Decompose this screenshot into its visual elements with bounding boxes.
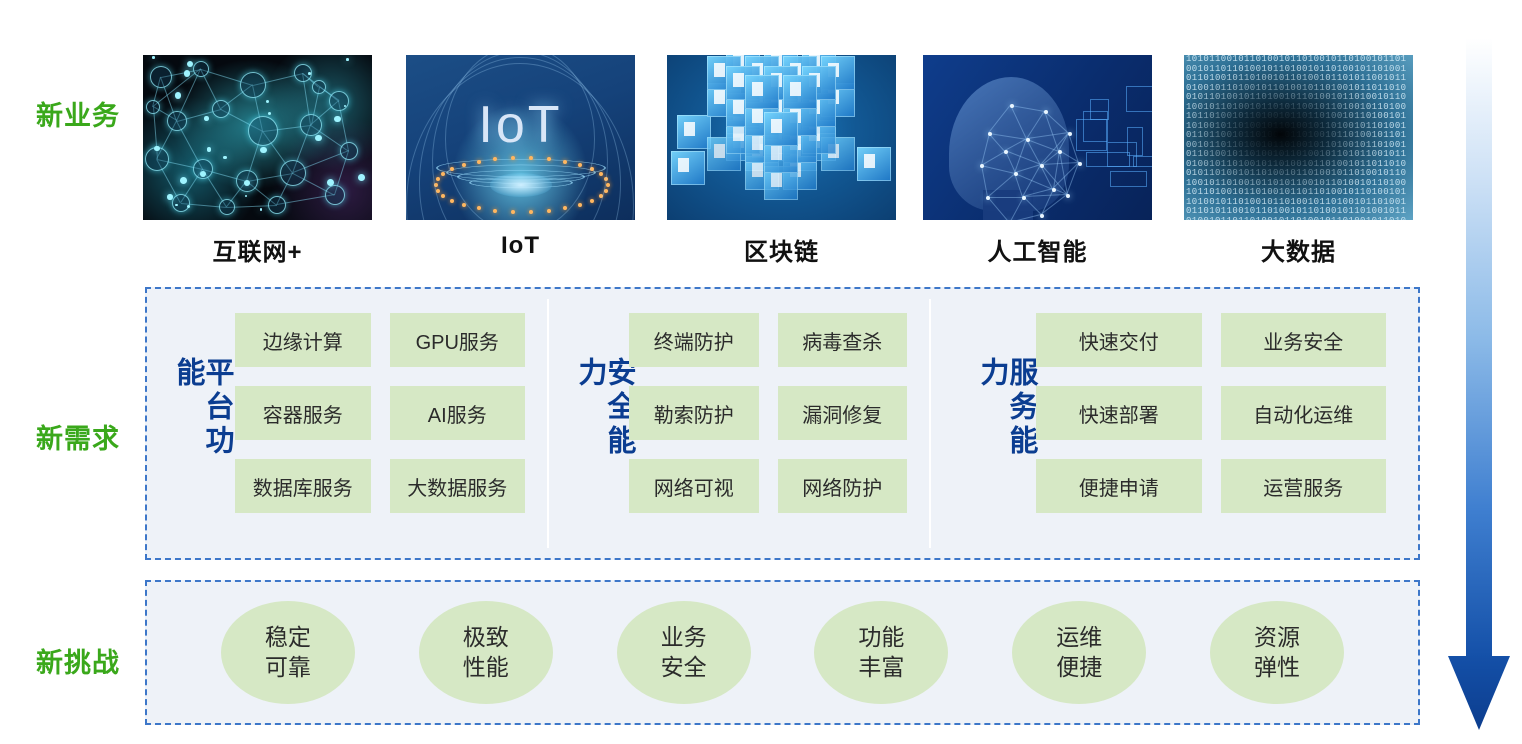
business-card-row: 互联网+ IoT IoT 区块链 人工智能 101011001011010010… <box>143 55 1413 255</box>
demand-chip[interactable]: 快速交付 <box>1036 313 1202 367</box>
business-card-blockchain[interactable]: 区块链 <box>667 55 896 267</box>
business-card-iot[interactable]: IoT IoT <box>406 55 635 260</box>
demand-chip[interactable]: 便捷申请 <box>1036 459 1202 513</box>
business-card-caption: 大数据 <box>1184 232 1413 267</box>
new-demand-panel: 平台功能 边缘计算 GPU服务 容器服务 AI服务 数据库服务 大数据服务 安全… <box>145 287 1420 560</box>
network-nodes-image <box>143 55 372 220</box>
downward-flow-arrow-icon <box>1448 38 1510 730</box>
demand-chip[interactable]: 病毒查杀 <box>778 313 908 367</box>
business-card-caption: 互联网+ <box>143 232 372 267</box>
demand-chip[interactable]: AI服务 <box>390 386 526 440</box>
challenge-line-2: 丰富 <box>858 653 904 682</box>
demand-chip[interactable]: GPU服务 <box>390 313 526 367</box>
business-card-internet-plus[interactable]: 互联网+ <box>143 55 372 267</box>
challenge-line-2: 性能 <box>463 653 509 682</box>
binary-digits: 1010110010110100101101001011010010110100… <box>1184 55 1413 220</box>
demand-chip[interactable]: 运营服务 <box>1221 459 1387 513</box>
demand-group-title: 安全能力 <box>575 356 633 491</box>
challenge-oval[interactable]: 功能 丰富 <box>814 601 948 704</box>
isometric-blockchain-cubes-image <box>667 55 896 220</box>
demand-chip[interactable]: 容器服务 <box>235 386 371 440</box>
challenge-line-2: 可靠 <box>265 653 311 682</box>
challenge-oval[interactable]: 运维 便捷 <box>1012 601 1146 704</box>
demand-chip[interactable]: 网络可视 <box>629 459 759 513</box>
business-card-caption: 人工智能 <box>923 232 1152 267</box>
business-card-caption: 区块链 <box>667 232 896 267</box>
demand-group-security: 安全能力 终端防护 病毒查杀 勒索防护 漏洞修复 网络可视 网络防护 <box>549 289 931 558</box>
arrow-shaft <box>1466 38 1492 658</box>
row-label-new-demand: 新需求 <box>36 417 120 456</box>
challenge-oval[interactable]: 稳定 可靠 <box>221 601 355 704</box>
demand-group-service: 服务能力 快速交付 业务安全 快速部署 自动化运维 便捷申请 运营服务 <box>931 289 1418 558</box>
ai-polygon-head-image <box>923 55 1152 220</box>
demand-chip[interactable]: 终端防护 <box>629 313 759 367</box>
challenge-line-1: 功能 <box>858 623 904 652</box>
challenge-line-2: 弹性 <box>1254 653 1300 682</box>
demand-chip[interactable]: 大数据服务 <box>390 459 526 513</box>
arrow-head <box>1448 656 1510 730</box>
demand-chip[interactable]: 漏洞修复 <box>778 386 908 440</box>
business-card-ai[interactable]: 人工智能 <box>923 55 1152 267</box>
business-card-caption: IoT <box>406 232 635 260</box>
demand-chip[interactable]: 数据库服务 <box>235 459 371 513</box>
demand-chip[interactable]: 网络防护 <box>778 459 908 513</box>
challenge-line-1: 资源 <box>1254 623 1300 652</box>
row-label-new-challenge: 新挑战 <box>36 641 120 680</box>
slide-root: 新业务 新需求 新挑战 互联网+ IoT IoT 区块链 人工智能 <box>0 0 1522 744</box>
challenge-line-1: 稳定 <box>265 623 311 652</box>
business-card-big-data[interactable]: 1010110010110100101101001011010010110100… <box>1184 55 1413 267</box>
challenge-line-2: 便捷 <box>1056 653 1102 682</box>
challenge-oval[interactable]: 业务 安全 <box>617 601 751 704</box>
demand-chip[interactable]: 勒索防护 <box>629 386 759 440</box>
demand-group-platform: 平台功能 边缘计算 GPU服务 容器服务 AI服务 数据库服务 大数据服务 <box>147 289 549 558</box>
row-label-new-business: 新业务 <box>36 94 120 133</box>
challenge-oval[interactable]: 极致 性能 <box>419 601 553 704</box>
demand-group-title: 平台功能 <box>173 356 231 491</box>
demand-chip-grid: 终端防护 病毒查杀 勒索防护 漏洞修复 网络可视 网络防护 <box>629 313 907 513</box>
challenge-line-1: 极致 <box>463 623 509 652</box>
demand-chip[interactable]: 快速部署 <box>1036 386 1202 440</box>
demand-chip[interactable]: 业务安全 <box>1221 313 1387 367</box>
demand-chip-grid: 边缘计算 GPU服务 容器服务 AI服务 数据库服务 大数据服务 <box>235 313 525 513</box>
iot-hologram-image: IoT <box>406 55 635 220</box>
demand-chip[interactable]: 边缘计算 <box>235 313 371 367</box>
demand-chip[interactable]: 自动化运维 <box>1221 386 1387 440</box>
new-challenge-panel: 稳定 可靠 极致 性能 业务 安全 功能 丰富 运维 便捷 资源 弹性 <box>145 580 1420 725</box>
demand-group-title: 服务能力 <box>977 356 1035 491</box>
challenge-line-1: 运维 <box>1056 623 1102 652</box>
challenge-line-1: 业务 <box>661 623 707 652</box>
binary-data-tunnel-image: 1010110010110100101101001011010010110100… <box>1184 55 1413 220</box>
challenge-oval[interactable]: 资源 弹性 <box>1210 601 1344 704</box>
challenge-line-2: 安全 <box>661 653 707 682</box>
demand-chip-grid: 快速交付 业务安全 快速部署 自动化运维 便捷申请 运营服务 <box>1036 313 1386 513</box>
